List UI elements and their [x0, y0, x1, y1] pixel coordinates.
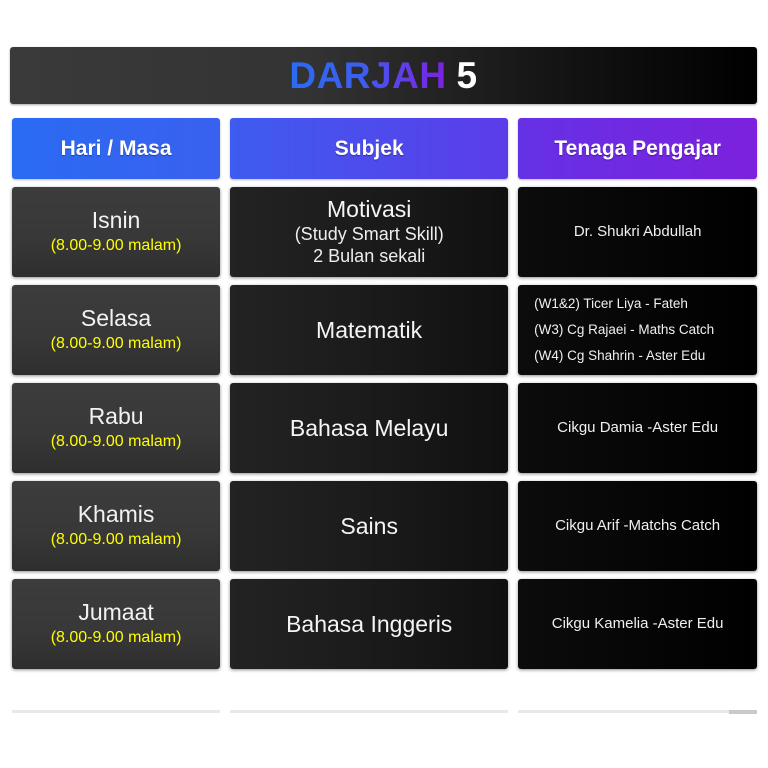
subject-note-2: 2 Bulan sekali — [313, 245, 425, 268]
subject-name: Matematik — [316, 317, 422, 343]
column-header-day-label: Hari / Masa — [61, 137, 172, 161]
teacher-cell: Dr. Shukri Abdullah — [518, 187, 757, 277]
day-cell: Rabu (8.00-9.00 malam) — [12, 383, 220, 473]
bottom-edge-segment — [12, 710, 220, 713]
teacher-cell: Cikgu Kamelia -Aster Edu — [518, 579, 757, 669]
teacher-name: Dr. Shukri Abdullah — [574, 222, 702, 242]
title-banner: DARJAH5 — [10, 47, 757, 104]
table-row: Isnin (8.00-9.00 malam) Motivasi (Study … — [12, 187, 757, 277]
day-time: (8.00-9.00 malam) — [51, 236, 182, 256]
subject-cell: Motivasi (Study Smart Skill) 2 Bulan sek… — [230, 187, 508, 277]
table-bottom-edge — [12, 710, 757, 713]
day-name: Rabu — [89, 404, 144, 429]
teacher-name: Cikgu Arif -Matchs Catch — [555, 516, 720, 536]
day-name: Jumaat — [78, 600, 153, 625]
table-header-row: Hari / Masa Subjek Tenaga Pengajar — [12, 118, 757, 179]
bottom-edge-segment — [230, 710, 508, 713]
day-time: (8.00-9.00 malam) — [51, 334, 182, 354]
day-name: Khamis — [78, 502, 155, 527]
title-number: 5 — [457, 55, 478, 96]
subject-name: Bahasa Melayu — [290, 415, 449, 441]
column-header-day: Hari / Masa — [12, 118, 220, 179]
day-name: Isnin — [92, 208, 141, 233]
teacher-cell: Cikgu Arif -Matchs Catch — [518, 481, 757, 571]
teacher-cell: (W1&2) Ticer Liya - Fateh (W3) Cg Rajaei… — [518, 285, 757, 375]
subject-name: Motivasi — [327, 196, 411, 222]
column-header-subject: Subjek — [230, 118, 508, 179]
day-name: Selasa — [81, 306, 151, 331]
day-time: (8.00-9.00 malam) — [51, 432, 182, 452]
day-cell: Selasa (8.00-9.00 malam) — [12, 285, 220, 375]
day-cell: Jumaat (8.00-9.00 malam) — [12, 579, 220, 669]
subject-name: Sains — [340, 513, 398, 539]
day-time: (8.00-9.00 malam) — [51, 628, 182, 648]
schedule-page: DARJAH5 Hari / Masa Subjek Tenaga Pengaj… — [0, 0, 768, 768]
teacher-line: (W3) Cg Rajaei - Maths Catch — [534, 317, 714, 343]
column-header-teacher-label: Tenaga Pengajar — [554, 137, 721, 161]
bottom-edge-tick — [729, 710, 757, 714]
day-cell: Isnin (8.00-9.00 malam) — [12, 187, 220, 277]
table-row: Khamis (8.00-9.00 malam) Sains Cikgu Ari… — [12, 481, 757, 571]
subject-cell: Bahasa Melayu — [230, 383, 508, 473]
table-row: Rabu (8.00-9.00 malam) Bahasa Melayu Cik… — [12, 383, 757, 473]
subject-cell: Sains — [230, 481, 508, 571]
subject-cell: Bahasa Inggeris — [230, 579, 508, 669]
table-row: Selasa (8.00-9.00 malam) Matematik (W1&2… — [12, 285, 757, 375]
subject-cell: Matematik — [230, 285, 508, 375]
teacher-line: (W1&2) Ticer Liya - Fateh — [534, 291, 688, 317]
subject-name: Bahasa Inggeris — [286, 611, 452, 637]
column-header-subject-label: Subjek — [335, 137, 404, 161]
teacher-line: (W4) Cg Shahrin - Aster Edu — [534, 343, 705, 369]
page-title: DARJAH5 — [289, 57, 477, 94]
day-cell: Khamis (8.00-9.00 malam) — [12, 481, 220, 571]
subject-note-1: (Study Smart Skill) — [295, 223, 444, 246]
teacher-cell: Cikgu Damia -Aster Edu — [518, 383, 757, 473]
teacher-name: Cikgu Kamelia -Aster Edu — [552, 614, 724, 634]
column-header-teacher: Tenaga Pengajar — [518, 118, 757, 179]
teacher-name: Cikgu Damia -Aster Edu — [557, 418, 718, 438]
title-word: DARJAH — [289, 55, 446, 96]
day-time: (8.00-9.00 malam) — [51, 530, 182, 550]
table-row: Jumaat (8.00-9.00 malam) Bahasa Inggeris… — [12, 579, 757, 669]
bottom-edge-segment — [518, 710, 757, 713]
schedule-table: Hari / Masa Subjek Tenaga Pengajar Isnin… — [12, 118, 757, 677]
